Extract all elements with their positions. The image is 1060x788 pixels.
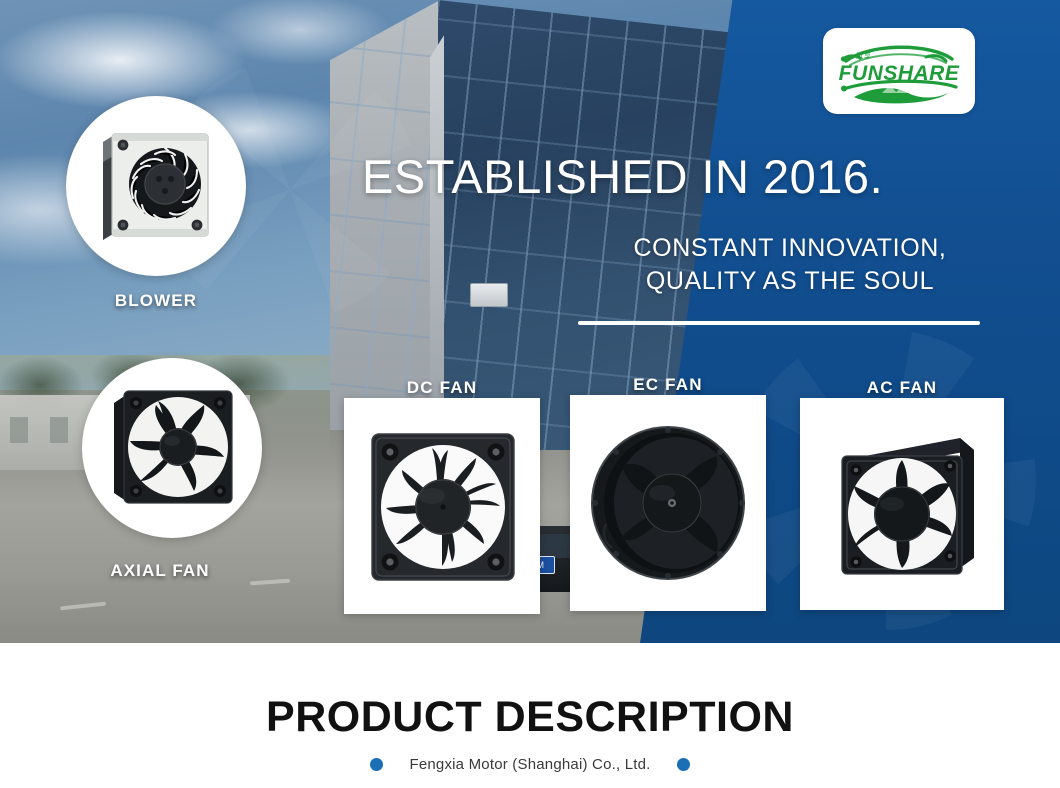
product-circle-blower[interactable] [66, 96, 246, 276]
headline-divider [578, 321, 980, 325]
ac-fan-icon [814, 418, 990, 590]
card-label-ec-fan: EC FAN [570, 375, 766, 395]
product-card-ac-fan[interactable] [800, 398, 1004, 610]
logo-wordmark: FUNSHARE [830, 62, 968, 86]
product-card-ec-fan[interactable] [570, 395, 766, 611]
logo-chinese-mark: 风享 [856, 51, 872, 61]
ec-fan-icon [580, 414, 756, 592]
product-label-axial-fan: AXIAL FAN [60, 561, 260, 581]
bullet-dot-icon [677, 758, 690, 771]
product-label-blower: BLOWER [56, 291, 256, 311]
subheadline-line-1: CONSTANT INNOVATION, [580, 232, 1000, 265]
section-title: PRODUCT DESCRIPTION [0, 693, 1060, 742]
axial-fan-icon [96, 373, 248, 523]
subheadline-line-2: QUALITY AS THE SOUL [580, 265, 1000, 298]
product-circle-axial-fan[interactable] [82, 358, 262, 538]
company-name: Fengxia Motor (Shanghai) Co., Ltd. [409, 756, 650, 773]
hero-banner: 沪C398M 风享 FUNSH [0, 0, 1060, 643]
subheadline: CONSTANT INNOVATION, QUALITY AS THE SOUL [580, 232, 1000, 298]
product-description-section: PRODUCT DESCRIPTION Fengxia Motor (Shang… [0, 643, 1060, 788]
product-card-dc-fan[interactable] [344, 398, 540, 614]
blower-fan-icon [81, 116, 231, 256]
dc-fan-icon [358, 418, 526, 594]
company-logo[interactable]: 风享 FUNSHARE [823, 28, 975, 114]
company-byline: Fengxia Motor (Shanghai) Co., Ltd. [0, 756, 1060, 773]
card-label-dc-fan: DC FAN [344, 378, 540, 398]
bullet-dot-icon [370, 758, 383, 771]
headline: ESTABLISHED IN 2016. [362, 153, 883, 200]
card-label-ac-fan: AC FAN [800, 378, 1004, 398]
